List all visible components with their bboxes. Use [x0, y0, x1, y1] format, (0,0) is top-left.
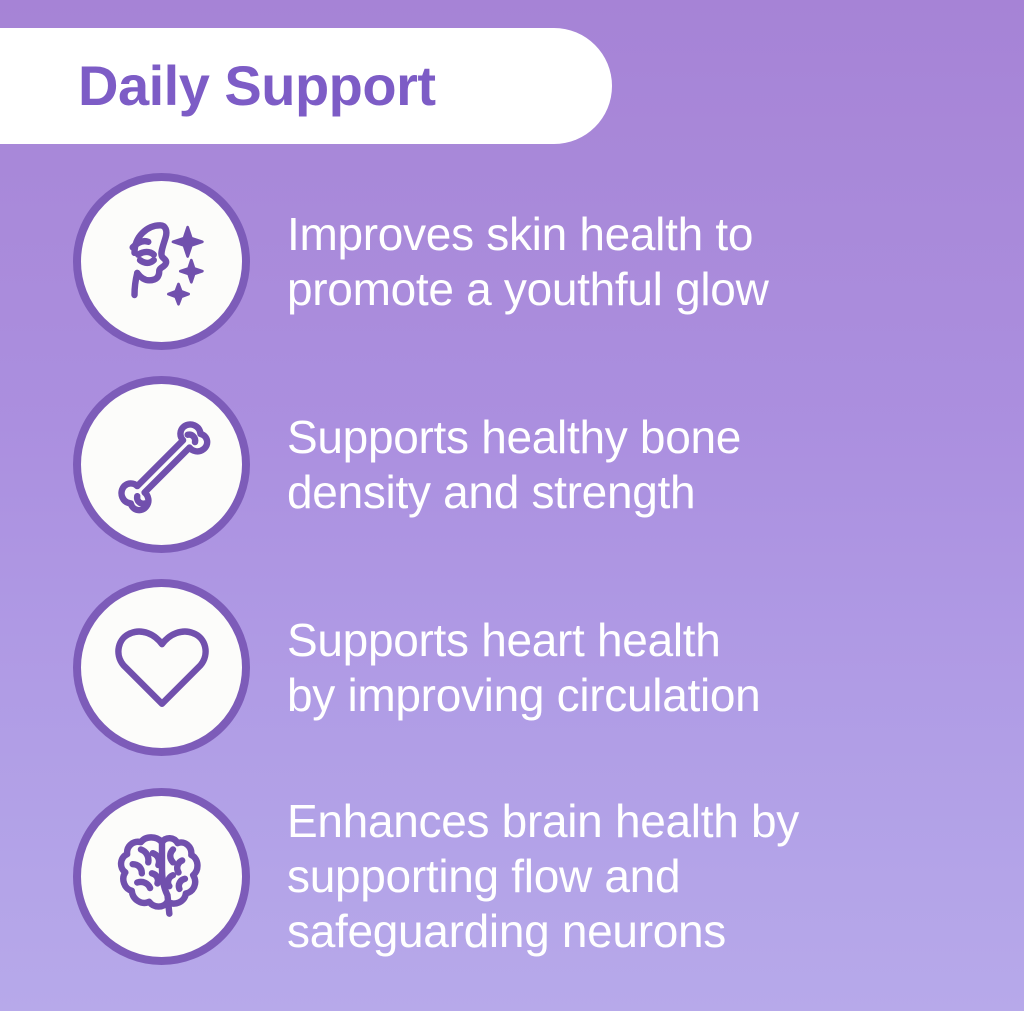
benefit-icon-badge: [73, 173, 250, 350]
benefit-text: Improves skin health to promote a youthf…: [287, 207, 769, 317]
face-sparkle-icon: [107, 207, 217, 317]
benefit-icon-badge: [73, 788, 250, 965]
heart-icon: [107, 613, 217, 723]
benefit-icon-badge: [73, 579, 250, 756]
brain-icon: [107, 822, 217, 932]
benefit-row-skin: Improves skin health to promote a youthf…: [0, 160, 1024, 363]
benefit-row-brain: Enhances brain health by supporting flow…: [0, 769, 1024, 984]
benefits-list: Improves skin health to promote a youthf…: [0, 160, 1024, 984]
benefit-text: Supports healthy bone density and streng…: [287, 410, 741, 520]
bone-icon: [107, 410, 217, 520]
daily-support-poster: Daily Support Improves skin health to pr…: [0, 0, 1024, 1011]
header-pill: Daily Support: [0, 28, 612, 144]
benefit-row-heart: Supports heart health by improving circu…: [0, 566, 1024, 769]
benefit-icon-badge: [73, 376, 250, 553]
benefit-text: Supports heart health by improving circu…: [287, 613, 760, 723]
benefit-text: Enhances brain health by supporting flow…: [287, 794, 799, 959]
page-title: Daily Support: [78, 58, 436, 114]
benefit-row-bone: Supports healthy bone density and streng…: [0, 363, 1024, 566]
